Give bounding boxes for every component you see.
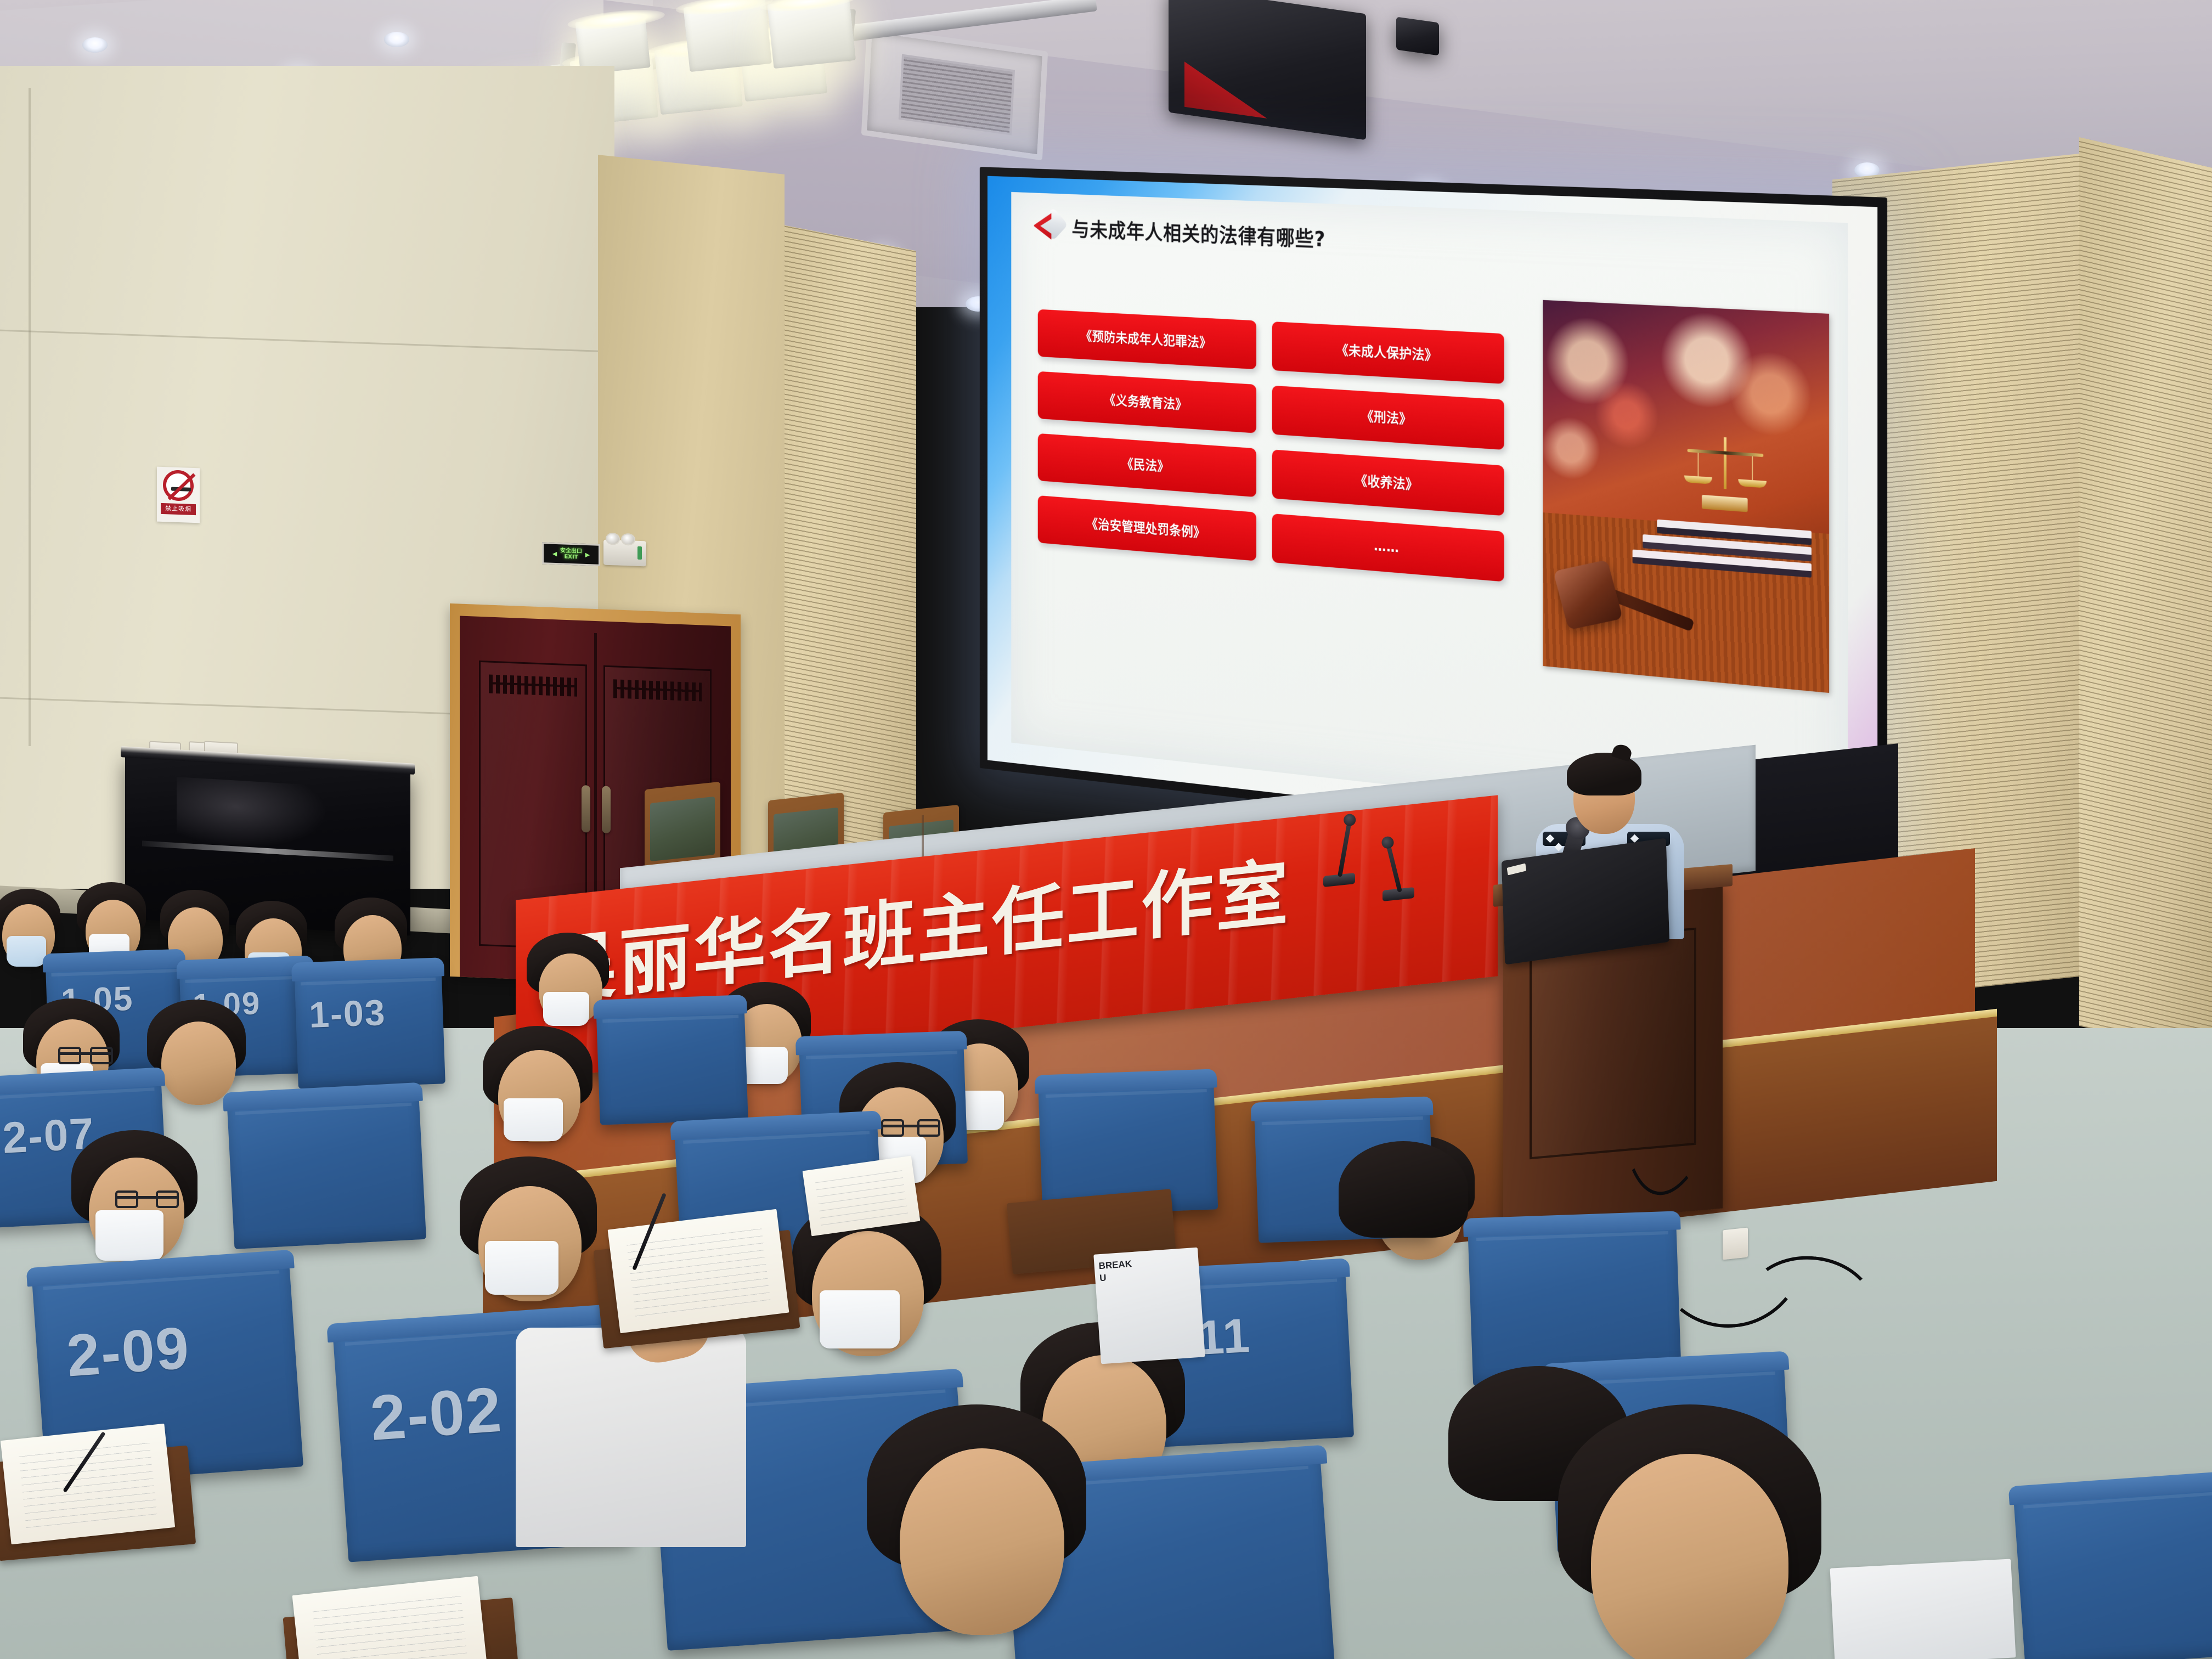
scales-of-justice-icon [1686, 435, 1764, 510]
law-chip: 《刑法》 [1272, 385, 1504, 449]
red-chevron-diamond-logo-icon [1034, 210, 1063, 244]
law-chip-label: 《收养法》 [1355, 470, 1419, 494]
law-chip-label: …… [1374, 538, 1399, 556]
exit-sign: ◄ 安全出口 EXIT ► [542, 542, 600, 566]
emergency-light [603, 540, 646, 567]
arrow-right-icon: ► [582, 550, 593, 560]
law-chip: 《民法》 [1038, 433, 1256, 497]
law-chip: 《未成人保护法》 [1272, 321, 1504, 384]
face-mask [485, 1241, 558, 1295]
law-chip: …… [1272, 513, 1504, 582]
attendee-head [900, 1448, 1064, 1635]
door-handle[interactable] [582, 785, 590, 833]
face-mask [504, 1098, 563, 1141]
wall-seam [29, 88, 31, 746]
law-chip-grid: 《预防未成年人犯罪法》 《未成人保护法》 《义务教育法》 《刑法》 《民法》 《… [1038, 309, 1504, 582]
no-smoking-icon [163, 470, 194, 501]
no-smoking-label: 禁止吸烟 [161, 503, 196, 515]
stage-power-socket[interactable] [1723, 1228, 1748, 1260]
law-chip-label: 《预防未成年人犯罪法》 [1080, 326, 1211, 352]
auditorium-seat[interactable] [2013, 1474, 2212, 1659]
seat-number: 2-09 [65, 1313, 192, 1390]
tote-text-line1: BREAK [1098, 1259, 1132, 1272]
no-smoking-sign: 禁止吸烟 [157, 467, 200, 523]
auditorium-seat[interactable] [596, 998, 748, 1125]
downlight-icon [384, 32, 409, 47]
slide-header: 与未成年人相关的法律有哪些? [1034, 210, 1326, 255]
tote-bag: BREAK U [1093, 1248, 1205, 1364]
face-mask [820, 1290, 900, 1348]
face-mask [543, 992, 589, 1026]
attendee-hair [1339, 1141, 1468, 1238]
law-chip: 《预防未成年人犯罪法》 [1038, 309, 1256, 369]
arrow-left-icon: ◄ [549, 549, 560, 558]
seat-number: 2-02 [368, 1373, 505, 1455]
ceiling-speaker [1396, 17, 1439, 56]
tote-text-line2: U [1099, 1272, 1107, 1284]
law-chip: 《治安管理处罚条例》 [1038, 495, 1256, 561]
face-mask [7, 936, 46, 967]
door-handle[interactable] [602, 786, 611, 833]
law-chip-label: 《未成人保护法》 [1336, 340, 1437, 364]
law-chip-label: 《民法》 [1122, 454, 1170, 476]
auditorium-seat[interactable]: 1-03 [294, 961, 445, 1088]
law-chip-label: 《治安管理处罚条例》 [1086, 513, 1205, 541]
law-chip-label: 《刑法》 [1361, 406, 1412, 428]
attendee-head [161, 1022, 236, 1105]
justice-scales-photo [1543, 300, 1829, 693]
tote-bag [1830, 1559, 2016, 1659]
law-chip: 《收养法》 [1272, 449, 1504, 516]
auditorium-seat[interactable] [227, 1086, 426, 1249]
exit-label-en: EXIT [560, 554, 582, 560]
eyeglasses-icon [882, 1125, 939, 1127]
law-chip: 《义务教育法》 [1038, 371, 1256, 433]
eyeglasses-icon [116, 1196, 178, 1199]
slide-canvas: 与未成年人相关的法律有哪些? 《预防未成年人犯罪法》 《未成人保护法》 《义务教… [1012, 192, 1848, 836]
stage-light-fixture [767, 0, 856, 69]
attendee-clothing [516, 1328, 746, 1547]
law-chip-label: 《义务教育法》 [1104, 390, 1187, 414]
wall-acoustic-slats [2079, 137, 2212, 1059]
downlight-icon [82, 37, 108, 53]
exit-label-cn: 安全出口 [560, 548, 582, 554]
slide-title: 与未成年人相关的法律有哪些? [1072, 213, 1326, 252]
face-mask [95, 1210, 163, 1261]
seat-number: 1-03 [308, 991, 387, 1036]
gavel-icon [1560, 558, 1689, 650]
auditorium-scene: 禁止吸烟 ◄ 安全出口 EXIT ► 与未成年人相关的法律有哪些? [0, 0, 2212, 1659]
eyeglasses-icon [59, 1052, 112, 1055]
notebook [1, 1424, 175, 1544]
notebook [608, 1209, 789, 1333]
stage-light-fixture [683, 0, 772, 72]
